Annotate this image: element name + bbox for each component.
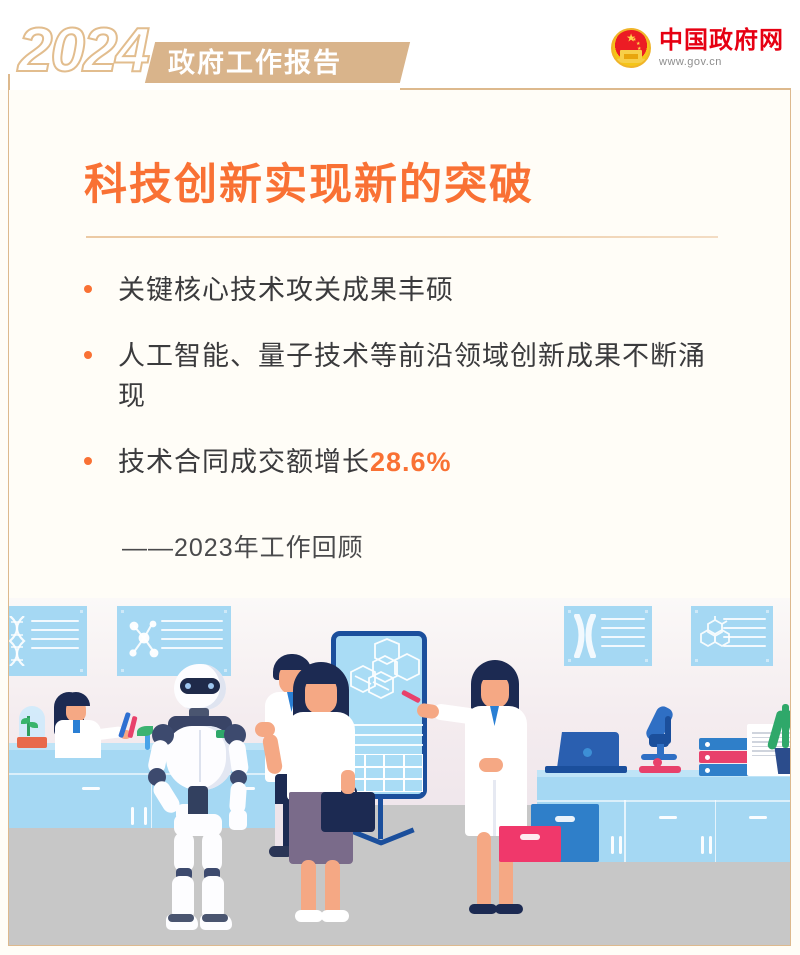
storage-box-pink <box>499 826 561 862</box>
emblem-small-stars: ★ ★ ★ ★ <box>617 38 645 48</box>
poster-text-lines <box>601 618 645 654</box>
bullet-dot-icon <box>84 351 92 359</box>
site-url-text: www.gov.cn <box>659 56 722 68</box>
bullet-list: 关键核心技术攻关成果丰硕 人工智能、量子技术等前沿领域创新成果不断涌现 技术合同… <box>84 270 734 508</box>
year-outline-text: 2024 <box>18 20 148 82</box>
chromosome-icon <box>571 614 601 658</box>
page-frame-top-border <box>400 88 791 90</box>
bullet-dot-icon <box>84 457 92 465</box>
poster-benzene-ring <box>691 606 773 666</box>
dna-icon <box>9 616 28 666</box>
bullet-text-main: 技术合同成交额增长 <box>118 447 370 477</box>
potted-plant <box>769 704 790 776</box>
banner-label: 政府工作报告 <box>168 46 398 80</box>
poster-dna-helix <box>9 606 87 676</box>
content-area: 科技创新实现新的突破 关键核心技术攻关成果丰硕 人工智能、量子技术等前沿领域创新… <box>0 88 800 600</box>
bullet-text: 关键核心技术攻关成果丰硕 <box>118 270 454 310</box>
bullet-text-main: 关键核心技术攻关成果丰硕 <box>118 275 454 305</box>
poster-text-lines <box>723 618 766 654</box>
science-laboratory-scene <box>9 598 790 945</box>
humanoid-robot <box>144 664 254 936</box>
site-name: 中国政府网 <box>659 29 784 53</box>
header: 2024 政府工作报告 ★ ★ ★ ★ ★ 中国政府网 www.gov.cn <box>0 0 800 90</box>
title-divider <box>86 236 718 238</box>
bullet-text: 技术合同成交额增长28.6% <box>118 442 452 482</box>
box-handle-slot <box>520 834 540 840</box>
laptop <box>545 732 627 774</box>
list-item: 人工智能、量子技术等前沿领域创新成果不断涌现 <box>84 336 734 416</box>
site-url: www.gov.cn <box>659 57 784 68</box>
poster-text-lines <box>31 620 79 656</box>
box-handle-slot <box>555 816 575 822</box>
report-poster: 2024 政府工作报告 ★ ★ ★ ★ ★ 中国政府网 www.gov.cn <box>0 0 800 955</box>
bullet-dot-icon <box>84 285 92 293</box>
emblem-gate <box>620 50 642 59</box>
gov-logo[interactable]: ★ ★ ★ ★ ★ 中国政府网 www.gov.cn <box>611 28 784 68</box>
list-item: 关键核心技术攻关成果丰硕 <box>84 270 734 310</box>
bullet-text-main: 人工智能、量子技术等前沿领域创新成果不断涌现 <box>118 341 706 411</box>
bullet-text-highlight: 28.6% <box>370 447 452 477</box>
molecule-icon <box>124 618 162 664</box>
list-item: 技术合同成交额增长28.6% <box>84 442 734 482</box>
page-title: 科技创新实现新的突破 <box>84 150 534 212</box>
plant-terrarium <box>17 706 47 748</box>
bullet-text: 人工智能、量子技术等前沿领域创新成果不断涌现 <box>118 336 708 416</box>
national-emblem-icon: ★ ★ ★ ★ ★ <box>611 28 651 68</box>
businesswoman-center <box>279 660 389 928</box>
microscope <box>639 706 691 776</box>
scientist-female-left <box>46 688 126 758</box>
source-attribution: ——2023年工作回顾 <box>122 528 364 564</box>
poster-chromosome <box>564 606 652 666</box>
logo-text-block: 中国政府网 www.gov.cn <box>659 29 784 68</box>
poster-text-lines <box>161 620 223 656</box>
page-frame-left-cap <box>8 74 10 90</box>
briefcase <box>321 792 375 832</box>
